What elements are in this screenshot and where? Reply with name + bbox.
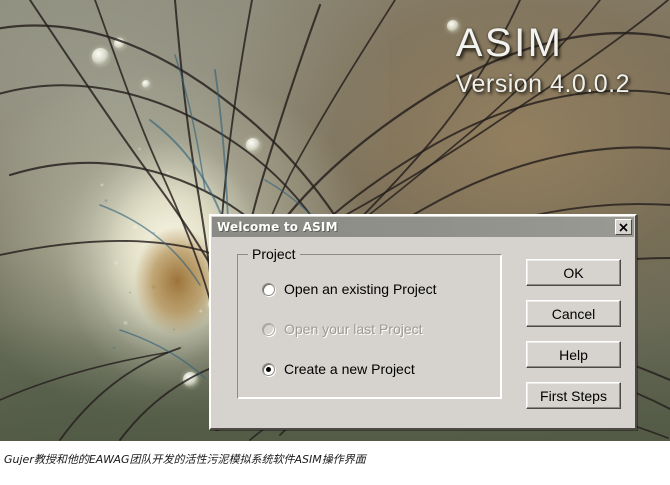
radio-open-existing-project[interactable]: Open an existing Project [262, 281, 437, 297]
radio-label: Open an existing Project [284, 281, 437, 297]
dialog-title: Welcome to ASIM [217, 220, 615, 234]
radio-create-new-project[interactable]: Create a new Project [262, 361, 415, 377]
close-icon [619, 223, 628, 232]
radio-open-last-project: Open your last Project [262, 321, 423, 337]
caption-area: Gujer教授和他的EAWAG团队开发的活性污泥模拟系统软件ASIM操作界面 [0, 441, 670, 485]
figure-caption: Gujer教授和他的EAWAG团队开发的活性污泥模拟系统软件ASIM操作界面 [4, 451, 366, 467]
first-steps-button[interactable]: First Steps [526, 382, 621, 409]
dialog-title-bar[interactable]: Welcome to ASIM [212, 217, 634, 237]
radio-label: Create a new Project [284, 361, 415, 377]
help-button[interactable]: Help [526, 341, 621, 368]
project-groupbox-label: Project [248, 246, 300, 262]
cancel-button[interactable]: Cancel [526, 300, 621, 327]
dialog-body: Project Open an existing Project Open yo… [211, 237, 635, 429]
close-button[interactable] [615, 219, 632, 235]
welcome-dialog: Welcome to ASIM Project Open an existing… [209, 214, 637, 430]
radio-indicator [262, 323, 275, 336]
radio-indicator[interactable] [262, 283, 275, 296]
dialog-button-column: OK Cancel Help First Steps [526, 259, 621, 409]
screenshot-root: ASIM Version 4.0.0.2 Welcome to ASIM Pro… [0, 0, 670, 485]
project-groupbox: Project Open an existing Project Open yo… [237, 254, 502, 399]
radio-label: Open your last Project [284, 321, 423, 337]
radio-indicator[interactable] [262, 363, 275, 376]
ok-button[interactable]: OK [526, 259, 621, 286]
